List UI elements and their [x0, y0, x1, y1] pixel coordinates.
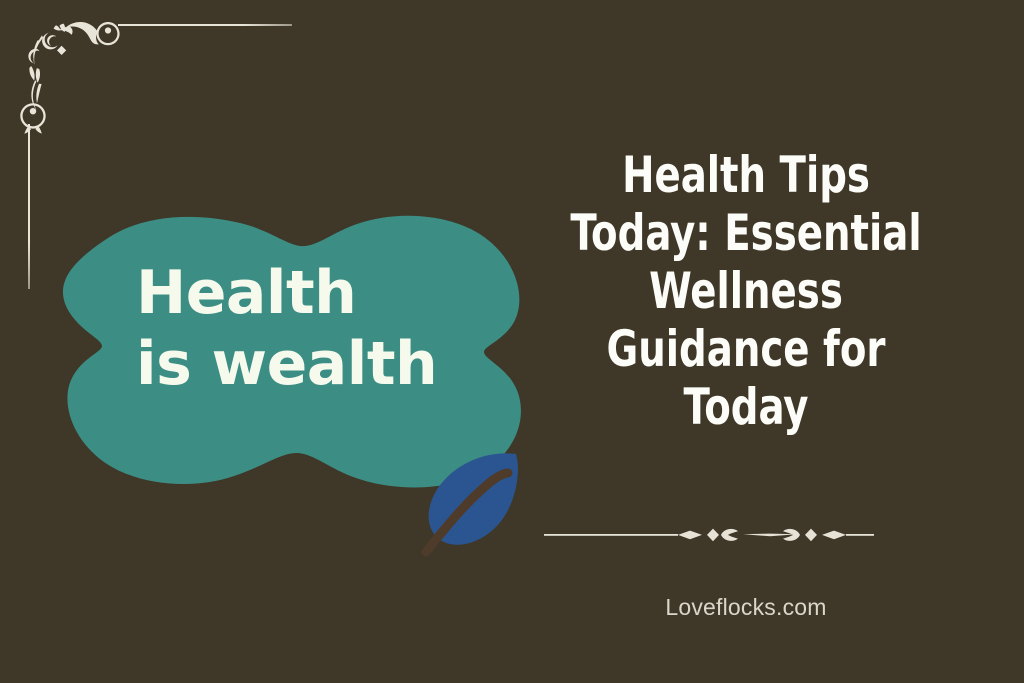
headline-block: Health Tips Today: Essential Wellness Gu…	[536, 146, 956, 436]
corner-top-rule	[118, 24, 292, 26]
logo-line-is-wealth: is wealth	[136, 335, 516, 394]
health-is-wealth-logo: Health is wealth	[48, 204, 532, 494]
corner-left-rule	[28, 124, 30, 289]
logo-wordmark: Health is wealth	[136, 264, 516, 394]
poster-canvas: Health is wealth Health Tips Today: Esse…	[0, 0, 1024, 683]
diamond-flourish-divider	[544, 524, 874, 546]
leaf-icon	[420, 448, 522, 558]
site-credit: Loveflocks.com	[536, 594, 956, 621]
logo-line-health: Health	[136, 264, 516, 323]
page-title: Health Tips Today: Essential Wellness Gu…	[565, 146, 926, 436]
flourish-corner-ornament	[4, 4, 134, 134]
